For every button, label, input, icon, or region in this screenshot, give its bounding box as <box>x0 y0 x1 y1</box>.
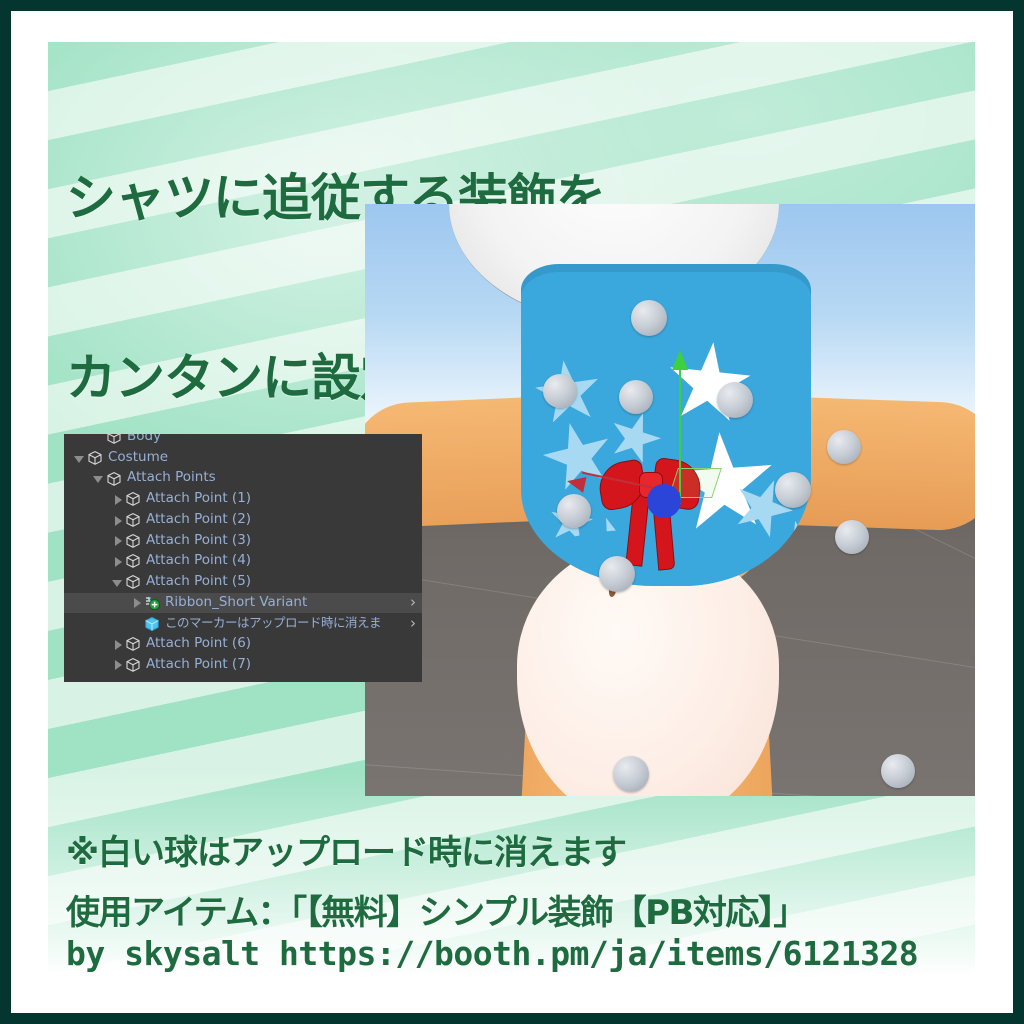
chevron-right-icon[interactable] <box>112 556 123 567</box>
gameobject-cube-icon <box>106 434 122 445</box>
hierarchy-row[interactable]: Attach Point (1) <box>64 489 422 510</box>
gameobject-cube-icon <box>125 657 141 673</box>
hierarchy-row[interactable]: Attach Point (3) <box>64 530 422 551</box>
prefab-variant-icon <box>144 595 160 611</box>
gameobject-cube-icon <box>125 491 141 507</box>
unity-scene-viewport[interactable] <box>365 204 975 796</box>
hierarchy-row[interactable]: Attach Point (5) <box>64 572 422 593</box>
gameobject-cube-icon <box>125 574 141 590</box>
hierarchy-row-label: Attach Point (5) <box>146 575 251 590</box>
hierarchy-row[interactable]: Attach Points <box>64 468 422 489</box>
chevron-down-icon[interactable] <box>112 577 123 588</box>
attach-point-marker-sphere[interactable] <box>827 430 861 464</box>
attach-point-marker-sphere[interactable] <box>881 754 915 788</box>
chevron-right-icon[interactable] <box>112 515 123 526</box>
page-title: シャツに追従する装飾を カンタンに設定できる基準点付き！ <box>48 42 975 187</box>
attach-point-marker-sphere[interactable] <box>835 520 869 554</box>
caption-block: ※白い球はアップロード時に消えます 使用アイテム：「【無料】シンプル装飾【PB対… <box>66 832 975 974</box>
gameobject-cube-icon <box>125 636 141 652</box>
gizmo-axis-x-arrow[interactable] <box>566 473 587 492</box>
gameobject-cube-icon <box>125 533 141 549</box>
hierarchy-row[interactable]: Body <box>64 434 422 448</box>
chevron-right-icon[interactable]: › <box>402 595 416 610</box>
gizmo-axis-z[interactable] <box>647 484 681 518</box>
poster-root: シャツに追従する装飾を カンタンに設定できる基準点付き！ ※白い球はアップロード… <box>0 0 1024 1024</box>
hierarchy-row[interactable]: Attach Point (4) <box>64 551 422 572</box>
attach-point-marker-sphere[interactable] <box>631 300 667 336</box>
hierarchy-row[interactable]: Ribbon_Short Variant› <box>64 593 422 614</box>
caption-note: ※白い球はアップロード時に消えます <box>66 832 975 875</box>
chevron-down-icon[interactable] <box>93 473 104 484</box>
hierarchy-row-label: Attach Point (3) <box>146 534 251 549</box>
hierarchy-row-label: このマーカーはアップロード時に消えま <box>165 617 381 631</box>
hierarchy-row[interactable]: Attach Point (7) <box>64 655 422 676</box>
hierarchy-row-label: Attach Point (2) <box>146 513 251 528</box>
hierarchy-row-label: Attach Point (7) <box>146 658 251 673</box>
chevron-down-icon[interactable] <box>74 453 85 464</box>
attach-point-marker-sphere[interactable] <box>619 380 653 414</box>
chevron-right-icon[interactable]: › <box>402 616 416 631</box>
chevron-right-icon[interactable] <box>112 535 123 546</box>
hierarchy-row[interactable]: Attach Point (6) <box>64 634 422 655</box>
caption-credit: by skysalt https://booth.pm/ja/items/612… <box>66 934 975 974</box>
gameobject-cube-icon <box>125 512 141 528</box>
hierarchy-row-label: Attach Point (6) <box>146 637 251 652</box>
prefab-blue-cube-icon <box>144 616 160 632</box>
twisty-spacer <box>93 434 104 443</box>
hierarchy-row-label: Attach Point (1) <box>146 492 251 507</box>
gameobject-cube-icon <box>106 471 122 487</box>
twisty-spacer <box>131 618 142 629</box>
attach-point-marker-sphere[interactable] <box>543 374 577 408</box>
attach-point-marker-sphere[interactable] <box>717 382 753 418</box>
attach-point-marker-sphere[interactable] <box>557 494 591 528</box>
gizmo-axis-y[interactable] <box>679 364 681 504</box>
transform-gizmo[interactable] <box>633 364 773 554</box>
attach-point-marker-sphere[interactable] <box>613 756 649 792</box>
chevron-right-icon[interactable] <box>112 494 123 505</box>
hierarchy-row[interactable]: このマーカーはアップロード時に消えま› <box>64 613 422 634</box>
gizmo-axis-y-arrow[interactable] <box>672 350 688 370</box>
gameobject-cube-icon <box>87 450 103 466</box>
chevron-right-icon[interactable] <box>112 639 123 650</box>
hierarchy-row-label: Attach Points <box>127 471 216 486</box>
hierarchy-row[interactable]: Attach Point (2) <box>64 510 422 531</box>
attach-point-marker-sphere[interactable] <box>775 472 811 508</box>
attach-point-marker-sphere[interactable] <box>599 556 635 592</box>
hierarchy-row-label: Body <box>127 434 161 445</box>
hierarchy-row-label: Attach Point (4) <box>146 554 251 569</box>
shirt-star <box>700 549 782 586</box>
hierarchy-row-label: Costume <box>108 451 168 466</box>
gameobject-cube-icon <box>125 553 141 569</box>
hierarchy-row[interactable]: Costume <box>64 448 422 469</box>
unity-hierarchy-panel[interactable]: BodyCostumeAttach PointsAttach Point (1)… <box>64 434 422 682</box>
chevron-right-icon[interactable] <box>112 659 123 670</box>
hierarchy-row-label: Ribbon_Short Variant <box>165 596 307 611</box>
caption-item: 使用アイテム：「【無料】シンプル装飾【PB対応】」 <box>66 893 975 934</box>
chevron-right-icon[interactable] <box>131 597 142 608</box>
